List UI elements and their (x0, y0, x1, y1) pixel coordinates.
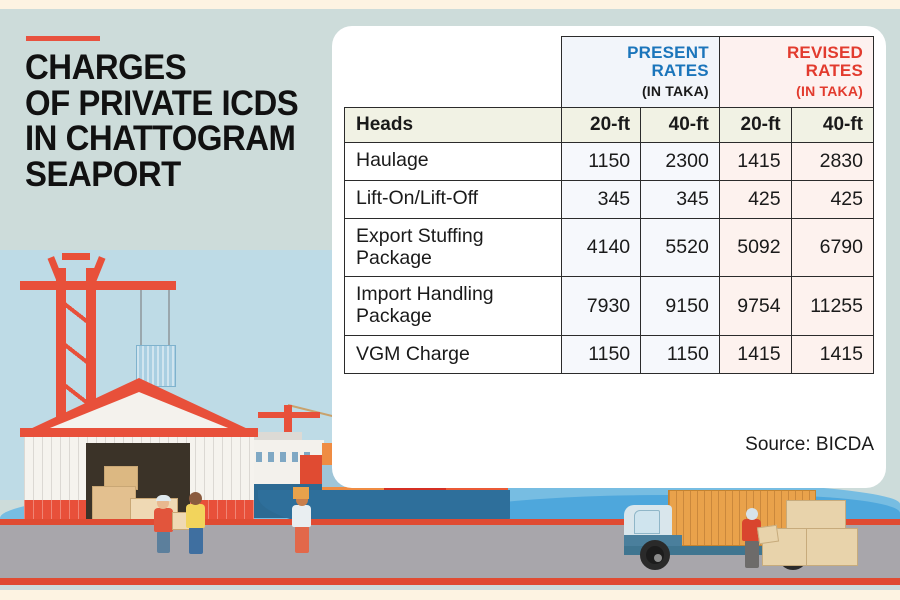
title-line-1: CHARGES (25, 50, 307, 86)
column-header-present-20ft: 20-ft (562, 107, 641, 142)
cell-revised-40ft: 1415 (791, 336, 873, 374)
row-head: Haulage (345, 142, 562, 180)
row-head: VGM Charge (345, 336, 562, 374)
cell-present-20ft: 4140 (562, 218, 641, 277)
cell-present-20ft: 1150 (562, 336, 641, 374)
table-header: PRESENT RATES (IN TAKA) REVISED RATES (I… (345, 37, 874, 143)
worker-figure (184, 492, 210, 554)
worker-legs (189, 527, 203, 554)
truck-window (634, 510, 660, 534)
group-header-row: PRESENT RATES (IN TAKA) REVISED RATES (I… (345, 37, 874, 108)
table-row: Import Handling Package 7930 9150 9754 1… (345, 277, 874, 336)
crane-cable-left (140, 290, 142, 348)
crane-cable-right (168, 290, 170, 348)
row-head: Lift-On/Lift-Off (345, 180, 562, 218)
cell-revised-20ft: 1415 (719, 336, 791, 374)
column-header-revised-40ft: 40-ft (791, 107, 873, 142)
cell-revised-40ft: 11255 (791, 277, 873, 336)
truck-wheel (640, 540, 670, 570)
worker-cap (156, 495, 171, 501)
top-trim-strip (0, 0, 900, 9)
column-header-heads: Heads (345, 107, 562, 142)
table-body: Haulage 1150 2300 1415 2830 Lift-On/Lift… (345, 142, 874, 373)
carried-crate (757, 525, 779, 545)
crane-jib (20, 281, 176, 290)
cell-present-40ft: 2300 (641, 142, 720, 180)
table-row: VGM Charge 1150 1150 1415 1415 (345, 336, 874, 374)
worker-torso (292, 505, 311, 527)
cell-revised-20ft: 1415 (719, 142, 791, 180)
rates-table: PRESENT RATES (IN TAKA) REVISED RATES (I… (344, 36, 874, 374)
source-attribution: Source: BICDA (344, 434, 874, 456)
group-header-revised-unit: (IN TAKA) (728, 84, 863, 99)
cell-present-40ft: 9150 (641, 277, 720, 336)
worker-torso (186, 504, 205, 528)
row-head: Import Handling Package (345, 277, 562, 336)
worker-torso (154, 508, 173, 532)
infographic-root: CHARGES OF PRIVATE ICDS IN CHATTOGRAM SE… (0, 0, 900, 600)
group-header-revised-line2: RATES (806, 61, 863, 80)
worker-legs (157, 531, 170, 553)
cell-present-40ft: 345 (641, 180, 720, 218)
group-header-revised: REVISED RATES (IN TAKA) (719, 37, 873, 108)
worker-figure (290, 492, 316, 554)
cell-revised-40ft: 2830 (791, 142, 873, 180)
worker-head (746, 508, 758, 520)
cell-present-40ft: 1150 (641, 336, 720, 374)
cell-revised-40ft: 6790 (791, 218, 873, 277)
crane-apex-cap (62, 253, 90, 260)
group-header-present: PRESENT RATES (IN TAKA) (562, 37, 719, 108)
title-line-2: OF PRIVATE ICDS (25, 86, 307, 122)
cell-revised-20ft: 425 (719, 180, 791, 218)
group-header-present-line1: PRESENT (627, 43, 709, 62)
stacked-crate (806, 528, 858, 566)
shoulder-carried-box (293, 487, 309, 499)
table-row: Export Stuffing Package 4140 5520 5092 6… (345, 218, 874, 277)
cell-present-20ft: 345 (562, 180, 641, 218)
group-header-spacer (345, 37, 562, 108)
bottom-trim-strip (0, 590, 900, 600)
column-header-revised-20ft: 20-ft (719, 107, 791, 142)
cell-present-20ft: 7930 (562, 277, 641, 336)
cell-revised-40ft: 425 (791, 180, 873, 218)
ground-accent-bottom (0, 578, 900, 585)
table-row: Lift-On/Lift-Off 345 345 425 425 (345, 180, 874, 218)
cell-present-40ft: 5520 (641, 218, 720, 277)
column-header-present-40ft: 40-ft (641, 107, 720, 142)
row-head: Export Stuffing Package (345, 218, 562, 277)
group-header-revised-line1: REVISED (787, 43, 863, 62)
worker-legs (745, 540, 759, 568)
cell-revised-20ft: 5092 (719, 218, 791, 277)
table-row: Haulage 1150 2300 1415 2830 (345, 142, 874, 180)
warehouse-gable (40, 392, 238, 432)
worker-head (189, 492, 202, 505)
group-header-present-unit: (IN TAKA) (570, 84, 708, 99)
worker-figure (740, 508, 766, 568)
title-line-3: IN CHATTOGRAM (25, 121, 307, 157)
group-header-present-line2: RATES (651, 61, 708, 80)
title-accent-rule (26, 36, 100, 41)
warehouse-eave (20, 428, 258, 437)
cell-present-20ft: 1150 (562, 142, 641, 180)
worker-legs (295, 526, 309, 553)
cell-revised-20ft: 9754 (719, 277, 791, 336)
page-title: CHARGES OF PRIVATE ICDS IN CHATTOGRAM SE… (25, 50, 307, 193)
column-header-row: Heads 20-ft 40-ft 20-ft 40-ft (345, 107, 874, 142)
title-line-4: SEAPORT (25, 157, 307, 193)
